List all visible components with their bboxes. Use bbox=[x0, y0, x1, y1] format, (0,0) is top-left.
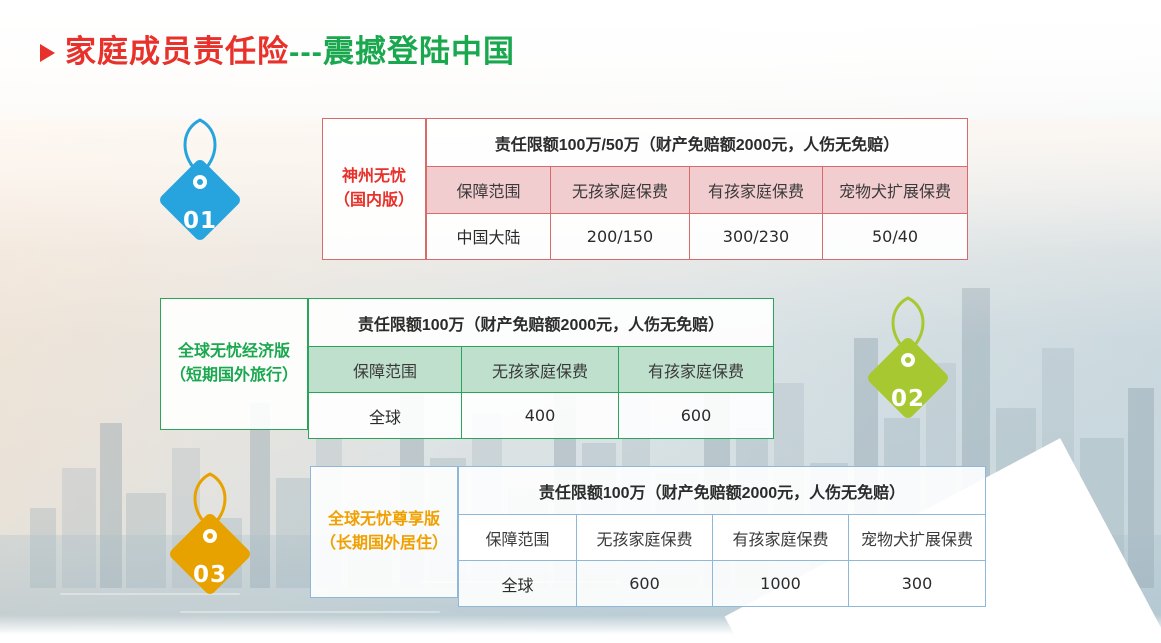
value-scope: 中国大陆 bbox=[427, 213, 551, 259]
value-scope: 全球 bbox=[309, 393, 462, 439]
plan-label-2-line2: （短期国外旅行） bbox=[170, 364, 298, 388]
plan-label-1-line1: 神州无忧 bbox=[342, 165, 406, 189]
tag-number-02: 02 bbox=[848, 386, 968, 412]
plan-table-1: 责任限额100万/50万（财产免赔额2000元，人伤无免赔） 保障范围 无孩家庭… bbox=[426, 118, 968, 260]
col-header-scope: 保障范围 bbox=[459, 515, 577, 561]
value-withchild: 600 bbox=[619, 393, 774, 439]
table-row-header: 责任限额100万（财产免赔额2000元，人伤无免赔） bbox=[309, 299, 774, 347]
tag-badge-03: 03 bbox=[150, 466, 270, 616]
col-header-nochild: 无孩家庭保费 bbox=[577, 515, 713, 561]
table-row-values: 全球 400 600 bbox=[309, 393, 774, 439]
table-row-columns: 保障范围 无孩家庭保费 有孩家庭保费 bbox=[309, 347, 774, 393]
plan-block-2: 全球无忧经济版 （短期国外旅行） 责任限额100万（财产免赔额2000元，人伤无… bbox=[160, 298, 774, 439]
value-scope: 全球 bbox=[459, 561, 577, 607]
value-nochild: 600 bbox=[577, 561, 713, 607]
table-row-values: 全球 600 1000 300 bbox=[459, 561, 986, 607]
col-header-withchild: 有孩家庭保费 bbox=[619, 347, 774, 393]
plan-label-2: 全球无忧经济版 （短期国外旅行） bbox=[160, 298, 308, 430]
page-title-red: 家庭成员责任险 bbox=[65, 34, 289, 69]
plan-table-3: 责任限额100万（财产免赔额2000元，人伤无免赔） 保障范围 无孩家庭保费 有… bbox=[458, 466, 986, 607]
page-title: 家庭成员责任险---震撼登陆中国 bbox=[40, 36, 515, 67]
value-pet: 300 bbox=[849, 561, 986, 607]
plan-label-3: 全球无忧尊享版 （长期国外居住） bbox=[310, 466, 458, 598]
plan-label-1: 神州无忧 （国内版） bbox=[322, 118, 426, 260]
page-title-green: ---震撼登陆中国 bbox=[289, 34, 515, 69]
col-header-scope: 保障范围 bbox=[427, 167, 551, 213]
value-withchild: 1000 bbox=[713, 561, 849, 607]
arrow-right-icon bbox=[40, 44, 55, 62]
table-row-values: 中国大陆 200/150 300/230 50/40 bbox=[427, 213, 968, 259]
value-nochild: 200/150 bbox=[551, 213, 690, 259]
col-header-pet: 宠物犬扩展保费 bbox=[823, 167, 968, 213]
tag-badge-01: 01 bbox=[140, 112, 260, 262]
plan-label-3-line2: （长期国外居住） bbox=[320, 532, 448, 556]
col-header-nochild: 无孩家庭保费 bbox=[462, 347, 619, 393]
value-pet: 50/40 bbox=[823, 213, 968, 259]
col-header-pet: 宠物犬扩展保费 bbox=[849, 515, 986, 561]
tag-number-01: 01 bbox=[140, 208, 260, 234]
plan-label-3-line1: 全球无忧尊享版 bbox=[328, 508, 440, 532]
plan-block-1: 神州无忧 （国内版） 责任限额100万/50万（财产免赔额2000元，人伤无免赔… bbox=[322, 118, 968, 260]
plan-header-2: 责任限额100万（财产免赔额2000元，人伤无免赔） bbox=[309, 299, 774, 347]
table-row-columns: 保障范围 无孩家庭保费 有孩家庭保费 宠物犬扩展保费 bbox=[459, 515, 986, 561]
plan-block-3: 全球无忧尊享版 （长期国外居住） 责任限额100万（财产免赔额2000元，人伤无… bbox=[310, 466, 986, 607]
tag-number-03: 03 bbox=[150, 562, 270, 588]
plan-label-1-line2: （国内版） bbox=[334, 189, 414, 213]
col-header-scope: 保障范围 bbox=[309, 347, 462, 393]
slide-canvas: 家庭成员责任险---震撼登陆中国 01 神州无忧 （国内版） 责任限额100万/… bbox=[0, 0, 1161, 643]
value-nochild: 400 bbox=[462, 393, 619, 439]
plan-label-2-line1: 全球无忧经济版 bbox=[178, 340, 290, 364]
col-header-withchild: 有孩家庭保费 bbox=[713, 515, 849, 561]
col-header-nochild: 无孩家庭保费 bbox=[551, 167, 690, 213]
plan-table-2: 责任限额100万（财产免赔额2000元，人伤无免赔） 保障范围 无孩家庭保费 有… bbox=[308, 298, 774, 439]
tag-badge-02: 02 bbox=[848, 290, 968, 440]
plan-header-3: 责任限额100万（财产免赔额2000元，人伤无免赔） bbox=[459, 467, 986, 515]
plan-header-1: 责任限额100万/50万（财产免赔额2000元，人伤无免赔） bbox=[427, 119, 968, 167]
table-row-columns: 保障范围 无孩家庭保费 有孩家庭保费 宠物犬扩展保费 bbox=[427, 167, 968, 213]
value-withchild: 300/230 bbox=[690, 213, 823, 259]
table-row-header: 责任限额100万/50万（财产免赔额2000元，人伤无免赔） bbox=[427, 119, 968, 167]
table-row-header: 责任限额100万（财产免赔额2000元，人伤无免赔） bbox=[459, 467, 986, 515]
col-header-withchild: 有孩家庭保费 bbox=[690, 167, 823, 213]
